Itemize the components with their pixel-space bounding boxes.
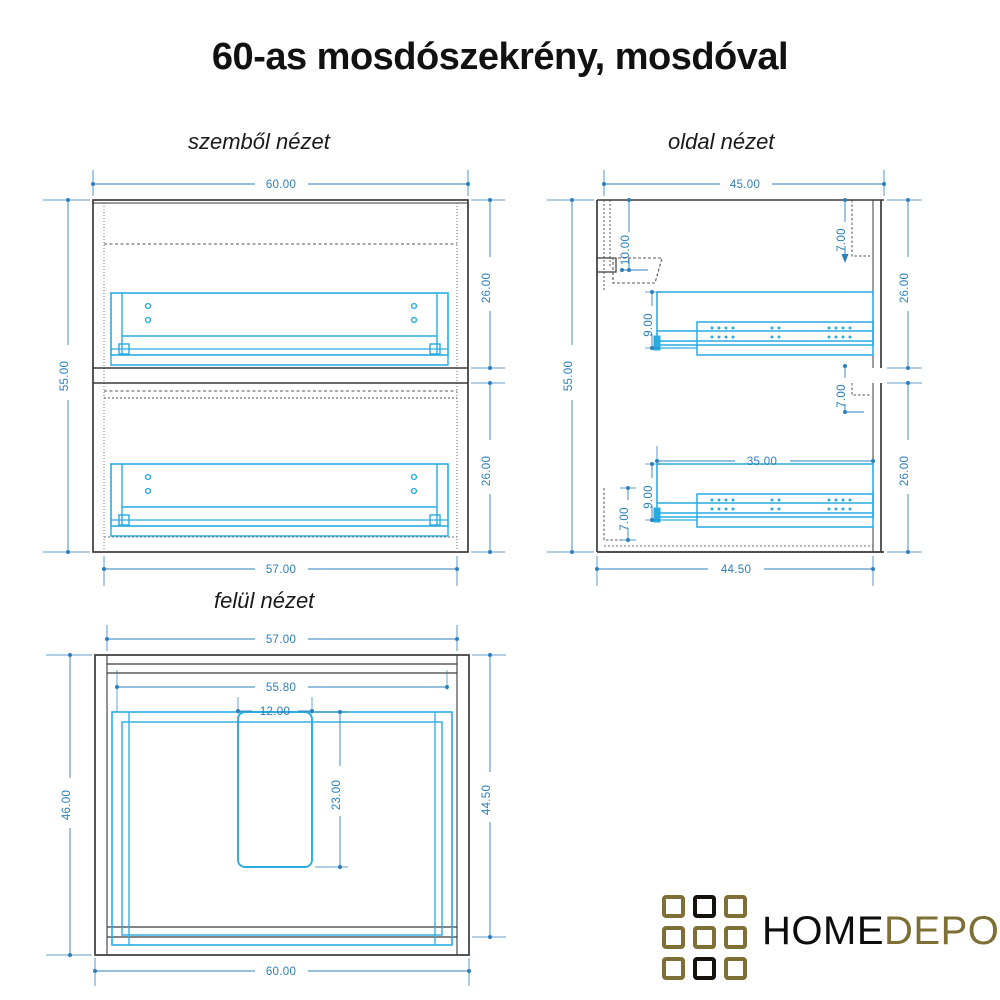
dim-front-height-left: 55.00 bbox=[43, 200, 90, 552]
dim-top-depth-left: 46.00 bbox=[46, 655, 92, 955]
side-upper-drawer bbox=[654, 292, 873, 355]
dim-label: 26.00 bbox=[899, 273, 911, 303]
logo-word-depo: DEPO bbox=[884, 909, 999, 953]
dim-top-width-top: 57.00 bbox=[107, 625, 457, 651]
dim-top-basin-width: 12.00 bbox=[238, 697, 312, 718]
dim-label: 9.00 bbox=[643, 485, 655, 509]
front-view-drawing: 60.00 55.00 26.00 bbox=[43, 170, 505, 586]
dim-label: 60.00 bbox=[266, 179, 296, 191]
dim-top-depth-right: 44.50 bbox=[472, 655, 506, 937]
top-basin-outline bbox=[112, 712, 452, 945]
dim-label: 44.50 bbox=[481, 785, 493, 815]
dim-front-width-top: 60.00 bbox=[93, 170, 468, 196]
front-lower-drawer bbox=[104, 464, 457, 537]
logo-square bbox=[662, 895, 685, 918]
logo-square bbox=[662, 957, 685, 980]
logo-square bbox=[693, 957, 716, 980]
logo-square bbox=[693, 926, 716, 949]
technical-drawing: 60.00 55.00 26.00 bbox=[0, 0, 1000, 1000]
logo-grid-icon bbox=[662, 895, 750, 983]
dim-label: 26.00 bbox=[481, 456, 493, 486]
drawing-sheet: 60-as mosdószekrény, mosdóval szemből né… bbox=[0, 0, 1000, 1000]
brand-logo: HOMEDEPO bbox=[662, 893, 982, 985]
dim-label: 26.00 bbox=[481, 273, 493, 303]
logo-square bbox=[662, 926, 685, 949]
dim-side-siphon-offset: 10.00 bbox=[620, 200, 632, 270]
logo-word-home: HOME bbox=[762, 909, 884, 953]
dim-label: 26.00 bbox=[899, 456, 911, 486]
dim-label: 46.00 bbox=[61, 790, 73, 820]
side-lower-drawer bbox=[654, 464, 873, 527]
dim-side-height-left: 55.00 bbox=[547, 200, 594, 552]
dim-top-basin-depth: 23.00 bbox=[315, 712, 348, 867]
dim-label: 7.00 bbox=[836, 228, 848, 252]
side-view-drawing: 45.00 10.00 7.00 9.00 bbox=[547, 170, 922, 586]
dim-label: 57.00 bbox=[266, 564, 296, 576]
logo-square bbox=[693, 895, 716, 918]
dim-side-upper-drawer-height: 26.00 bbox=[887, 200, 922, 368]
logo-wordmark: HOMEDEPO bbox=[762, 909, 999, 954]
dim-front-lower-drawer-height: 26.00 bbox=[471, 383, 505, 552]
dim-label: 35.00 bbox=[747, 456, 777, 468]
dim-label: 44.50 bbox=[721, 564, 751, 576]
dim-side-lower-drawer-height: 26.00 bbox=[887, 383, 922, 552]
dim-side-toe-gap: 7.00 bbox=[619, 488, 636, 540]
front-upper-drawer bbox=[111, 293, 448, 365]
dim-top-width-bottom: 60.00 bbox=[95, 958, 469, 986]
logo-square bbox=[724, 926, 747, 949]
dim-label: 12.00 bbox=[260, 706, 290, 718]
dim-label: 45.00 bbox=[730, 179, 760, 191]
top-view-drawing: 57.00 55.80 12.00 bbox=[46, 625, 506, 986]
dim-label: 7.00 bbox=[619, 507, 631, 531]
dim-side-back-gap-lower: 7.00 bbox=[836, 366, 864, 412]
dim-label: 23.00 bbox=[331, 780, 343, 810]
dim-front-upper-drawer-height: 26.00 bbox=[471, 200, 505, 368]
dim-label: 10.00 bbox=[620, 235, 632, 265]
dim-front-width-bottom: 57.00 bbox=[104, 556, 457, 586]
dim-label: 7.00 bbox=[836, 384, 848, 408]
dim-label: 55.00 bbox=[59, 361, 71, 391]
dim-label: 55.80 bbox=[266, 682, 296, 694]
dim-side-depth-top: 45.00 bbox=[604, 170, 884, 196]
dim-label: 60.00 bbox=[266, 966, 296, 978]
logo-square bbox=[724, 895, 747, 918]
dim-side-depth-bottom: 44.50 bbox=[597, 556, 873, 586]
logo-square bbox=[724, 957, 747, 980]
dim-label: 55.00 bbox=[563, 361, 575, 391]
dim-label: 57.00 bbox=[266, 634, 296, 646]
dim-side-back-gap-upper: 7.00 bbox=[836, 200, 848, 262]
dim-label: 9.00 bbox=[643, 313, 655, 337]
